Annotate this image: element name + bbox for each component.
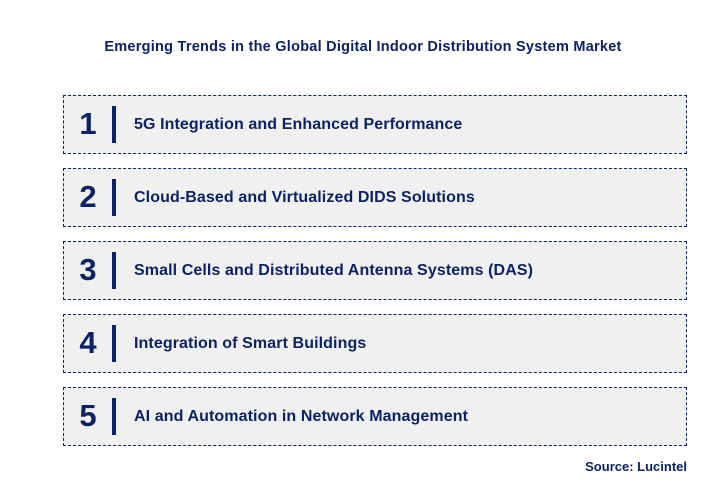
trend-label: 5G Integration and Enhanced Performance [134, 116, 686, 134]
page-title: Emerging Trends in the Global Digital In… [0, 39, 726, 55]
list-item: 2 Cloud-Based and Virtualized DIDS Solut… [63, 168, 687, 227]
trend-divider [112, 325, 116, 362]
trend-divider [112, 252, 116, 289]
trend-list: 1 5G Integration and Enhanced Performanc… [63, 95, 687, 446]
source-note: Source: Lucintel [585, 459, 687, 474]
list-item: 3 Small Cells and Distributed Antenna Sy… [63, 241, 687, 300]
trend-number: 5 [64, 400, 112, 433]
trend-label: Integration of Smart Buildings [134, 335, 686, 353]
trend-label: AI and Automation in Network Management [134, 408, 686, 426]
infographic-root: Emerging Trends in the Global Digital In… [0, 0, 726, 498]
trend-divider [112, 398, 116, 435]
list-item: 4 Integration of Smart Buildings [63, 314, 687, 373]
trend-number: 4 [64, 327, 112, 360]
trend-number: 2 [64, 181, 112, 214]
list-item: 5 AI and Automation in Network Managemen… [63, 387, 687, 446]
trend-label: Cloud-Based and Virtualized DIDS Solutio… [134, 189, 686, 207]
list-item: 1 5G Integration and Enhanced Performanc… [63, 95, 687, 154]
trend-number: 1 [64, 108, 112, 141]
trend-label: Small Cells and Distributed Antenna Syst… [134, 262, 686, 280]
trend-number: 3 [64, 254, 112, 287]
trend-divider [112, 179, 116, 216]
trend-divider [112, 106, 116, 143]
